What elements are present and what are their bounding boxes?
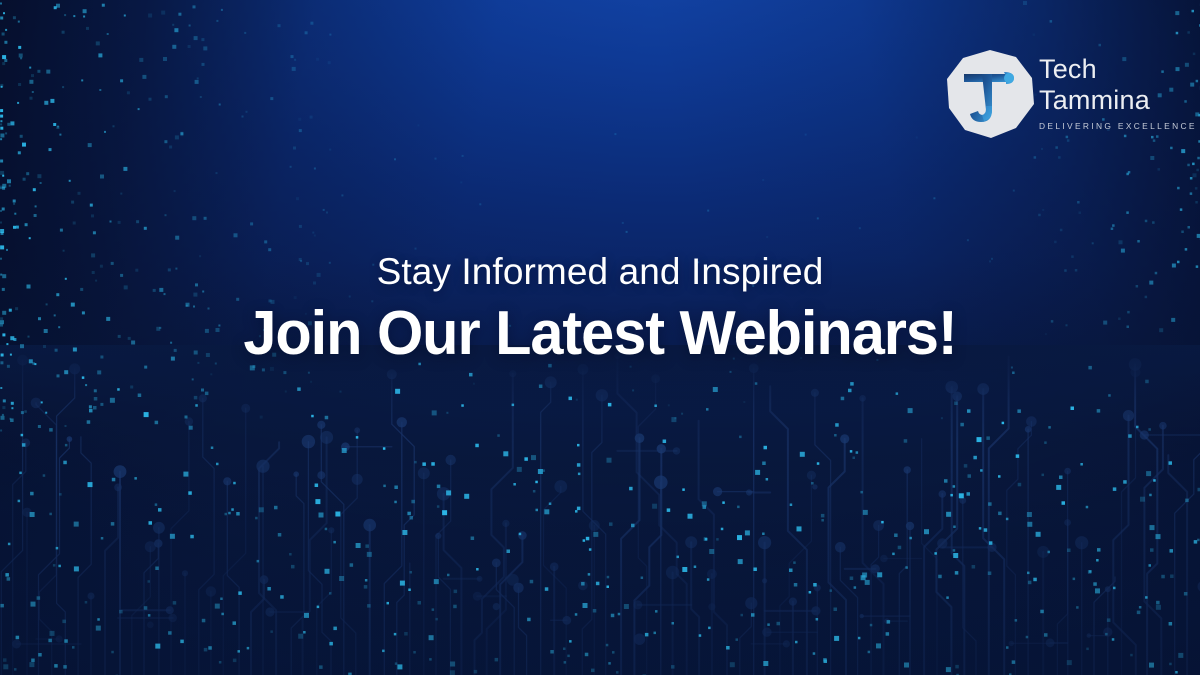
- logo-wordmark: Tech Tammina DELIVERING EXCELLENCE: [1039, 54, 1169, 131]
- headline-block: Stay Informed and Inspired Join Our Late…: [0, 252, 1200, 367]
- banner-headline: Join Our Latest Webinars!: [24, 301, 1176, 367]
- logo-lockup[interactable]: Tech Tammina DELIVERING EXCELLENCE: [944, 46, 1166, 142]
- webinar-banner: Stay Informed and Inspired Join Our Late…: [0, 0, 1200, 675]
- logo-name-line-1: Tech: [1039, 54, 1169, 85]
- tech-tammina-t-monogram-icon: [944, 48, 1036, 140]
- logo-tagline: DELIVERING EXCELLENCE: [1039, 121, 1169, 131]
- banner-subtitle: Stay Informed and Inspired: [0, 252, 1200, 291]
- logo-name-line-2: Tammina: [1039, 85, 1169, 116]
